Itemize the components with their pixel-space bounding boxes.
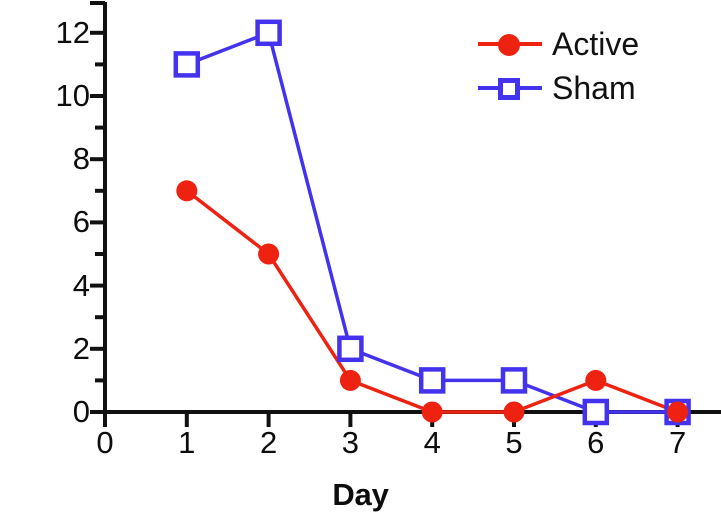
data-point-sham-day2 — [258, 22, 280, 44]
legend-label-active: Active — [552, 28, 639, 60]
data-point-sham-day6 — [585, 401, 607, 423]
data-point-active-day6 — [585, 370, 606, 391]
legend-item-sham[interactable]: Sham — [478, 66, 718, 110]
data-point-active-day1 — [176, 180, 197, 201]
data-point-sham-day1 — [176, 53, 198, 75]
data-point-active-day3 — [340, 370, 361, 391]
chart-figure: Number initiating MOUD 024681012 0123456… — [0, 0, 721, 523]
filled-circle-marker-icon — [478, 29, 542, 59]
legend: Active Sham — [478, 22, 718, 110]
data-point-active-day2 — [258, 244, 279, 265]
data-point-sham-day3 — [339, 338, 361, 360]
data-point-sham-day5 — [503, 369, 525, 391]
open-square-marker-icon — [478, 73, 542, 103]
legend-marker-sham — [498, 78, 520, 100]
data-point-active-day7 — [667, 402, 688, 423]
legend-item-active[interactable]: Active — [478, 22, 718, 66]
legend-marker-active — [498, 34, 520, 56]
data-point-active-day4 — [422, 402, 443, 423]
legend-label-sham: Sham — [552, 72, 636, 104]
data-point-active-day5 — [504, 402, 525, 423]
data-point-sham-day4 — [421, 369, 443, 391]
